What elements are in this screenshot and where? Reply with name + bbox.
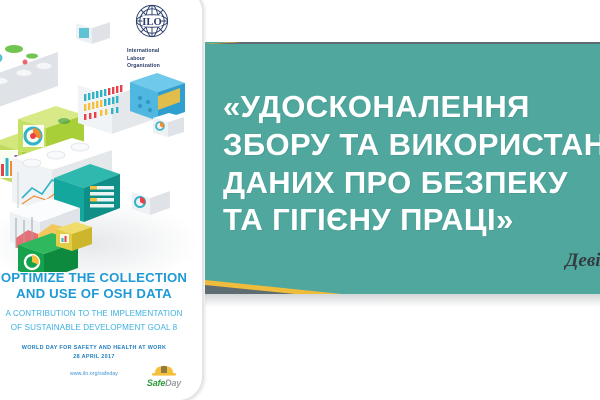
isometric-data-cubes-illustration [0, 22, 202, 272]
hard-hat-icon [151, 364, 177, 377]
slide-title-line-4: ТА ГІГІЄНУ ПРАЦІ» [223, 201, 600, 239]
slide-screenshot: ILO International Labour Organization [0, 0, 600, 400]
poster-date-line: 28 APRIL 2017 [0, 354, 202, 360]
poster-headline-line-1: OPTIMIZE THE COLLECTION [0, 270, 202, 286]
top-diagonal-accent [205, 42, 600, 44]
ilo-poster: ILO International Labour Organization [0, 0, 204, 400]
cube-floating-small-2 [153, 113, 184, 137]
safeday-word-safe: Safe [147, 378, 165, 388]
slide-credit-label: Девіз [565, 250, 600, 272]
poster-headline-line-2: AND USE OF OSH DATA [0, 286, 202, 302]
cube-floating-small-1 [76, 22, 110, 44]
slide-drop-shadow [205, 293, 600, 307]
safeday-word-day: Day [165, 378, 181, 388]
cube-blue [130, 73, 185, 121]
safeday-logo: SafeDay [138, 364, 190, 388]
slide-title-line-2: ЗБОРУ ТА ВИКОРИСТАННЯ [223, 126, 600, 164]
poster-subtitle-line-1: A CONTRIBUTION TO THE IMPLEMENTATION [0, 308, 202, 319]
bottom-diagonal-accent [205, 280, 600, 294]
poster-canvas: ILO International Labour Organization [0, 0, 202, 400]
presentation-slide: «УДОСКОНАЛЕННЯ ЗБОРУ ТА ВИКОРИСТАННЯ ДАН… [205, 42, 600, 294]
safeday-wordmark: SafeDay [138, 378, 190, 388]
poster-campaign-line: WORLD DAY FOR SAFETY AND HEALTH AT WORK [0, 345, 202, 351]
cube-floating-small-3 [132, 185, 170, 215]
cube-world-map [0, 36, 58, 110]
poster-subtitle-line-2: OF SUSTAINABLE DEVELOPMENT GOAL 8 [0, 322, 202, 333]
slide-title-line-3: ДАНИХ ПРО БЕЗПЕКУ [223, 164, 600, 202]
slide-title: «УДОСКОНАЛЕННЯ ЗБОРУ ТА ВИКОРИСТАННЯ ДАН… [223, 88, 600, 239]
slide-title-line-1: «УДОСКОНАЛЕННЯ [223, 88, 600, 126]
poster-text-block: OPTIMIZE THE COLLECTION AND USE OF OSH D… [0, 270, 202, 377]
